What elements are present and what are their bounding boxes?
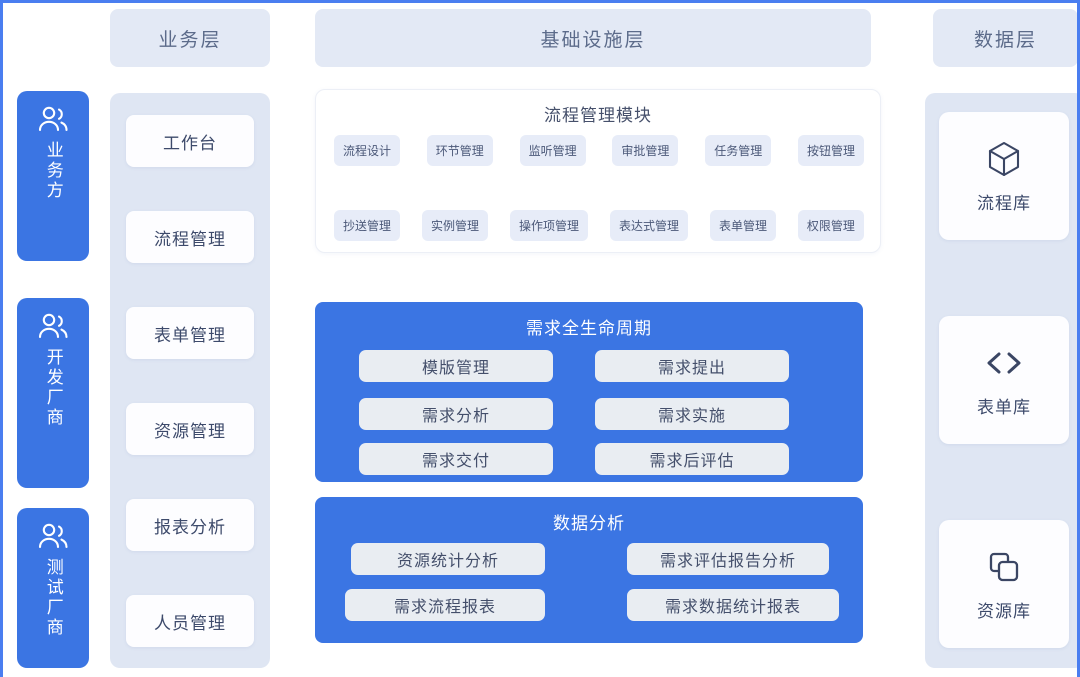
- data-card-process-library[interactable]: 流程库: [939, 112, 1069, 240]
- process-tag-row-1: 流程设计 环节管理 监听管理 审批管理 任务管理 按钮管理: [334, 135, 864, 166]
- data-card-label: 流程库: [977, 189, 1031, 214]
- business-item-workbench[interactable]: 工作台: [126, 115, 254, 167]
- actor-card-business-party[interactable]: 业务方: [17, 91, 89, 261]
- header-infrastructure-layer: 基础设施层: [315, 9, 871, 67]
- actor-label: 业务方: [41, 141, 64, 201]
- process-module-title: 流程管理模块: [316, 101, 880, 126]
- pill-requirement-delivery[interactable]: 需求交付: [359, 443, 553, 475]
- actor-card-test-vendor[interactable]: 测试厂商: [17, 508, 89, 668]
- business-layer-panel: 工作台 流程管理 表单管理 资源管理 报表分析 人员管理: [110, 93, 270, 668]
- pill-post-evaluation[interactable]: 需求后评估: [595, 443, 789, 475]
- requirement-lifecycle-panel: 需求全生命周期 模版管理 需求提出 需求分析 需求实施 需求交付 需求后评估: [315, 302, 863, 482]
- actor-rail: 业务方 开发厂商 测试厂商: [17, 3, 95, 677]
- actor-label: 测试厂商: [41, 558, 64, 638]
- data-card-form-library[interactable]: 表单库: [939, 316, 1069, 444]
- tag-form-mgmt[interactable]: 表单管理: [710, 210, 776, 241]
- data-card-label: 表单库: [977, 393, 1031, 418]
- pill-template-mgmt[interactable]: 模版管理: [359, 350, 553, 382]
- tag-operation-mgmt[interactable]: 操作项管理: [510, 210, 588, 241]
- tag-button-mgmt[interactable]: 按钮管理: [798, 135, 864, 166]
- data-card-resource-library[interactable]: 资源库: [939, 520, 1069, 648]
- pill-evaluation-report[interactable]: 需求评估报告分析: [627, 543, 829, 575]
- copy-icon: [984, 547, 1024, 587]
- data-analysis-panel: 数据分析 资源统计分析 需求评估报告分析 需求流程报表 需求数据统计报表: [315, 497, 863, 643]
- pill-requirement-implement[interactable]: 需求实施: [595, 398, 789, 430]
- tag-permission-mgmt[interactable]: 权限管理: [798, 210, 864, 241]
- pill-resource-statistics[interactable]: 资源统计分析: [351, 543, 545, 575]
- tag-cc-mgmt[interactable]: 抄送管理: [334, 210, 400, 241]
- tag-task-mgmt[interactable]: 任务管理: [705, 135, 771, 166]
- tag-instance-mgmt[interactable]: 实例管理: [422, 210, 488, 241]
- data-layer-panel: 流程库 表单库 资源库: [925, 93, 1080, 668]
- data-card-label: 资源库: [977, 597, 1031, 622]
- analytics-title: 数据分析: [315, 509, 863, 534]
- tag-listener-mgmt[interactable]: 监听管理: [520, 135, 586, 166]
- actor-card-dev-vendor[interactable]: 开发厂商: [17, 298, 89, 488]
- tag-node-mgmt[interactable]: 环节管理: [427, 135, 493, 166]
- code-brackets-icon: [984, 343, 1024, 383]
- lifecycle-title: 需求全生命周期: [315, 314, 863, 339]
- business-item-report-analysis[interactable]: 报表分析: [126, 499, 254, 551]
- actor-label: 开发厂商: [41, 348, 64, 428]
- pill-requirement-analysis[interactable]: 需求分析: [359, 398, 553, 430]
- pill-process-report[interactable]: 需求流程报表: [345, 589, 545, 621]
- business-item-resource-mgmt[interactable]: 资源管理: [126, 403, 254, 455]
- people-icon: [36, 522, 70, 550]
- header-business-layer: 业务层: [110, 9, 270, 67]
- tag-approval-mgmt[interactable]: 审批管理: [612, 135, 678, 166]
- cube-icon: [984, 139, 1024, 179]
- process-tag-row-2: 抄送管理 实例管理 操作项管理 表达式管理 表单管理 权限管理: [334, 210, 864, 241]
- business-item-personnel-mgmt[interactable]: 人员管理: [126, 595, 254, 647]
- architecture-diagram: 业务方 开发厂商 测试厂商: [0, 0, 1080, 677]
- business-item-process-mgmt[interactable]: 流程管理: [126, 211, 254, 263]
- people-icon: [36, 105, 70, 133]
- business-item-form-mgmt[interactable]: 表单管理: [126, 307, 254, 359]
- pill-requirement-submit[interactable]: 需求提出: [595, 350, 789, 382]
- tag-process-design[interactable]: 流程设计: [334, 135, 400, 166]
- pill-data-statistics-report[interactable]: 需求数据统计报表: [627, 589, 839, 621]
- process-management-module: 流程管理模块 流程设计 环节管理 监听管理 审批管理 任务管理 按钮管理 抄送管…: [315, 89, 881, 253]
- people-icon: [36, 312, 70, 340]
- tag-expression-mgmt[interactable]: 表达式管理: [610, 210, 688, 241]
- header-data-layer: 数据层: [933, 9, 1078, 67]
